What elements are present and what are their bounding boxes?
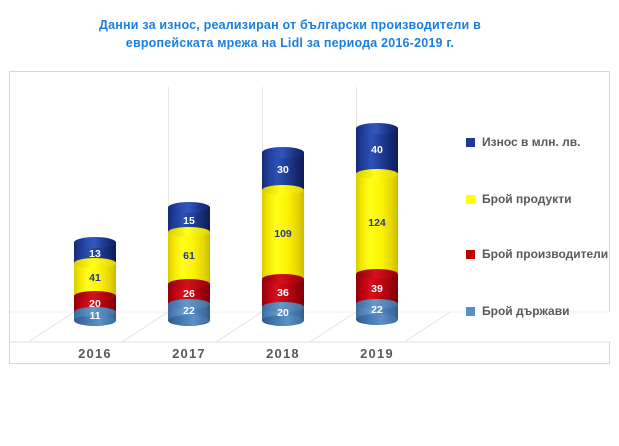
bar-2018-divider-1: [262, 185, 304, 195]
bar-2019-segment-iznos: 40: [356, 128, 398, 174]
legend-item-darzhavi[interactable]: Брой държави: [466, 304, 569, 318]
chart-title-line-2: европейската мрежа на Lidl за периода 20…: [126, 36, 454, 50]
x-axis-label-2016: 2016: [51, 346, 139, 361]
legend-label-produkti: Брой продукти: [482, 192, 571, 206]
bar-2019-cap: [356, 123, 398, 134]
bar-2018-segment-darzhavi: 20: [262, 307, 304, 321]
legend-item-iznos[interactable]: Износ в млн. лв.: [466, 135, 580, 149]
bar-2019-label-iznos: 40: [356, 144, 398, 156]
bar-2017-divider-1: [168, 227, 210, 237]
bar-2016-label-proizvoditeli: 20: [74, 298, 116, 310]
bar-2018-label-darzhavi: 20: [262, 307, 304, 319]
legend-label-iznos: Износ в млн. лв.: [482, 135, 580, 149]
bar-2016-cap: [74, 237, 116, 248]
bar-2019-label-proizvoditeli: 39: [356, 283, 398, 295]
legend-label-darzhavi: Брой държави: [482, 304, 569, 318]
legend-swatch-darzhavi: [466, 307, 475, 316]
bar-2018: 30 109 36 20: [262, 152, 304, 318]
bar-2017-label-iznos: 15: [168, 215, 210, 227]
bar-2017: 15 61 26 22: [168, 207, 210, 318]
chart-legend: Износ в млн. лв. Брой продукти Брой прои…: [458, 72, 608, 365]
bar-2019-divider-1: [356, 169, 398, 179]
bar-2018-label-produkti: 109: [262, 228, 304, 240]
bar-2017-label-produkti: 61: [168, 250, 210, 262]
bar-2016: 13 41 20 11: [74, 242, 116, 318]
bar-2019-divider-2: [356, 269, 398, 279]
bar-2016-label-iznos: 13: [74, 248, 116, 260]
bar-2016-label-darzhavi: 11: [74, 310, 116, 322]
chart-title: Данни за износ, реализиран от български …: [40, 16, 540, 52]
bar-2017-label-darzhavi: 22: [168, 305, 210, 317]
bar-2018-cap: [262, 147, 304, 158]
chart-plot-area: 13 41 20 11 15 61: [9, 71, 610, 364]
bar-2018-label-iznos: 30: [262, 164, 304, 176]
bar-2016-segment-darzhavi: 11: [74, 312, 116, 321]
legend-item-produkti[interactable]: Брой продукти: [466, 192, 571, 206]
bar-2016-label-produkti: 41: [74, 272, 116, 284]
bar-2017-segment-produkti: 61: [168, 232, 210, 284]
chart-title-line-1: Данни за износ, реализиран от български …: [99, 18, 481, 32]
legend-item-proizvoditeli[interactable]: Брой производители: [466, 247, 608, 261]
legend-label-proizvoditeli: Брой производители: [482, 247, 608, 261]
bar-2018-segment-produkti: 109: [262, 190, 304, 279]
legend-swatch-iznos: [466, 138, 475, 147]
bar-2017-label-proizvoditeli: 26: [168, 288, 210, 300]
bar-2017-cap: [168, 202, 210, 213]
legend-swatch-proizvoditeli: [466, 250, 475, 259]
x-axis-label-2019: 2019: [333, 346, 421, 361]
bar-2018-label-proizvoditeli: 36: [262, 287, 304, 299]
bar-2019: 40 124 39 22: [356, 128, 398, 318]
bar-2019-segment-produkti: 124: [356, 174, 398, 274]
bar-2018-divider-2: [262, 274, 304, 284]
x-axis-label-2018: 2018: [239, 346, 327, 361]
chart-canvas: Данни за износ, реализиран от български …: [0, 0, 619, 446]
legend-swatch-produkti: [466, 195, 475, 204]
x-axis-label-2017: 2017: [145, 346, 233, 361]
bar-2019-label-produkti: 124: [356, 217, 398, 229]
bar-2019-label-darzhavi: 22: [356, 304, 398, 316]
